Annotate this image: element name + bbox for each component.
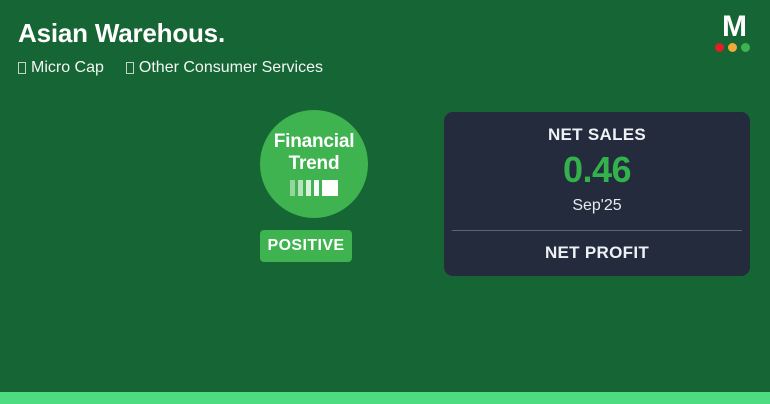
tofu-glyph-icon xyxy=(18,62,26,74)
status-badge: POSITIVE xyxy=(260,230,352,262)
financial-trend-title-line-1: Financial xyxy=(274,131,355,153)
signal-bar-2 xyxy=(298,180,303,196)
signal-bar-4 xyxy=(314,180,319,196)
signal-bars-icon xyxy=(290,180,338,196)
net-sales-value: 0.46 xyxy=(454,148,740,192)
signal-bar-5 xyxy=(322,180,338,196)
logo-dot-red xyxy=(715,43,724,52)
net-sales-period: Sep'25 xyxy=(454,195,740,216)
metric-card: NET SALES 0.46 Sep'25 NET PROFIT xyxy=(444,112,750,276)
page-title: Asian Warehous. xyxy=(18,18,225,48)
company-tag-row: Micro Cap Other Consumer Services xyxy=(18,58,323,78)
logo-dot-green xyxy=(741,43,750,52)
tofu-glyph-icon xyxy=(126,62,134,74)
logo-dot-orange xyxy=(728,43,737,52)
tag-sector[interactable]: Other Consumer Services xyxy=(126,58,323,78)
signal-bar-3 xyxy=(306,180,311,196)
signal-bar-1 xyxy=(290,180,295,196)
logo-dot-row xyxy=(715,43,750,52)
net-sales-section: NET SALES 0.46 Sep'25 xyxy=(444,112,750,230)
net-sales-label: NET SALES xyxy=(454,124,740,146)
tag-market-cap[interactable]: Micro Cap xyxy=(18,58,104,78)
moneycontrol-logo: M xyxy=(712,14,756,54)
net-profit-label[interactable]: NET PROFIT xyxy=(444,231,750,276)
tag-market-cap-label: Micro Cap xyxy=(31,58,104,78)
dashboard-stage: Asian Warehous. Micro Cap Other Consumer… xyxy=(0,0,770,404)
financial-trend-circle[interactable]: Financial Trend xyxy=(260,110,368,218)
financial-trend-block: Financial Trend POSITIVE xyxy=(260,110,370,262)
header: Asian Warehous. Micro Cap Other Consumer… xyxy=(0,0,770,100)
financial-trend-title-line-2: Trend xyxy=(289,153,340,175)
bottom-accent-bar xyxy=(0,392,770,404)
logo-letter-m: M xyxy=(712,14,756,40)
tag-sector-label: Other Consumer Services xyxy=(139,58,323,78)
